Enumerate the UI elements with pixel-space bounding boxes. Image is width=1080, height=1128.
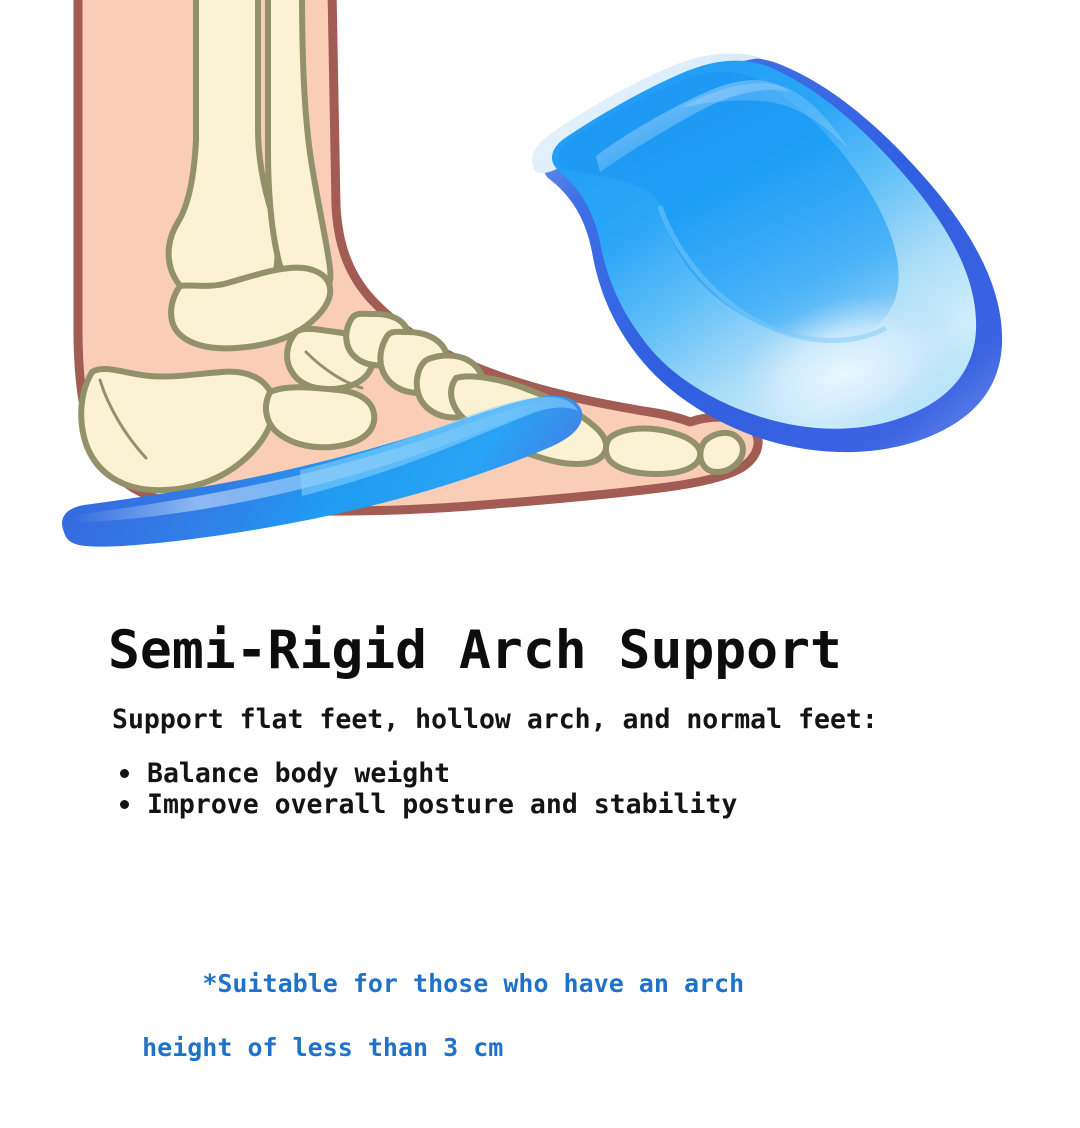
- footnote-line-2: height of less than 3 cm: [112, 1032, 744, 1064]
- benefit-label: Balance body weight: [147, 758, 450, 789]
- product-subtitle: Support flat feet, hollow arch, and norm…: [112, 704, 878, 736]
- product-text-block: Semi-Rigid Arch Support Support flat fee…: [0, 600, 1080, 1080]
- distal-phalanx-bone: [700, 433, 743, 472]
- footnote-line-1: *Suitable for those who have an arch: [202, 969, 744, 998]
- benefit-label: Improve overall posture and stability: [147, 789, 737, 820]
- product-infographic: Semi-Rigid Arch Support Support flat fee…: [0, 0, 1080, 1080]
- illustration-area: [0, 0, 1080, 600]
- cuboid-bone: [266, 387, 374, 447]
- benefits-list: Balance body weight Improve overall post…: [112, 758, 737, 820]
- footnote: *Suitable for those who have an arch hei…: [112, 936, 744, 1128]
- list-item: Balance body weight: [112, 758, 737, 789]
- page-title: Semi-Rigid Arch Support: [108, 622, 842, 680]
- proximal-phalanx-bone: [606, 429, 700, 474]
- angled-insole: [532, 53, 1002, 454]
- list-item: Improve overall posture and stability: [112, 789, 737, 820]
- bullet-dot-icon: [120, 769, 129, 778]
- bullet-dot-icon: [120, 800, 129, 809]
